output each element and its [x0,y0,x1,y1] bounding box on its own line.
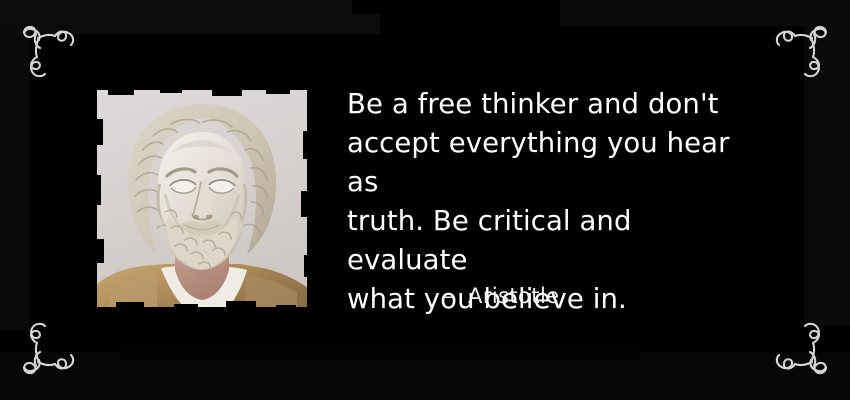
aristotle-bust-photo [95,88,310,310]
corner-flourish-icon [764,14,836,86]
quote-card: Be a free thinker and don't accept every… [0,0,850,400]
portrait-frame [86,79,319,319]
brush-texture-top-middle [352,0,562,14]
corner-flourish-icon [764,314,836,386]
quote-attribution: – Aristotle [443,283,560,309]
corner-flourish-icon [14,14,86,86]
corner-flourish-icon [14,314,86,386]
brush-texture-bottom-accent [120,344,640,360]
brush-texture-bottom [0,352,850,400]
